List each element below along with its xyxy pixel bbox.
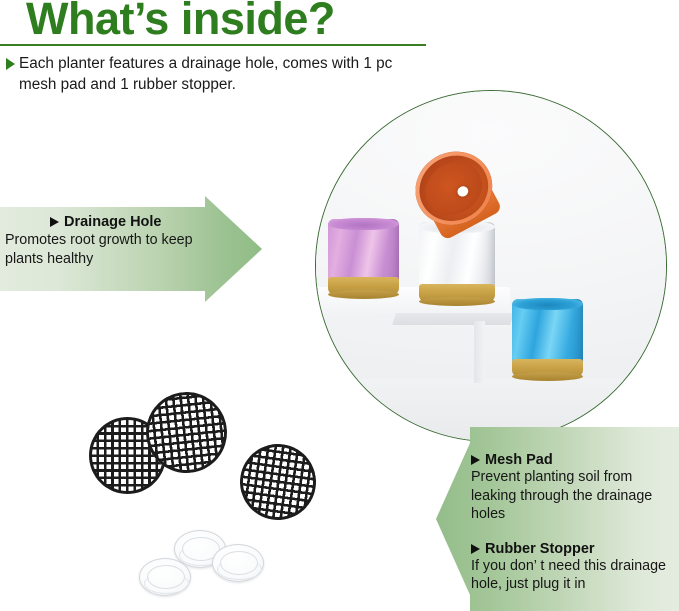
- blue-planter-gold-base: [512, 359, 583, 377]
- mesh-pad-body: Prevent planting soil from leaking throu…: [471, 468, 679, 524]
- drainage-hole-heading-row: Drainage Hole: [50, 214, 210, 230]
- intro-text: Each planter features a drainage hole, c…: [19, 53, 430, 95]
- rubber-stopper-heading-row: Rubber Stopper: [471, 541, 679, 557]
- mesh-pad-image: [235, 439, 321, 525]
- purple-planter-rim: [328, 218, 399, 230]
- rubber-stopper-image: [212, 544, 264, 582]
- blue-planter: [512, 299, 583, 373]
- mesh-pad-block: Mesh Pad Prevent planting soil from leak…: [471, 452, 679, 524]
- drainage-hole-callout-text: Drainage Hole Promotes root growth to ke…: [0, 214, 210, 268]
- photo-riser-leg: [474, 321, 485, 383]
- product-photo-planters: [315, 90, 667, 442]
- triangle-right-icon: [471, 544, 480, 554]
- rubber-stopper-image: [139, 558, 191, 596]
- blue-planter-rim: [512, 298, 583, 310]
- rubber-stopper-body: If you don’ t need this drainage hole, j…: [471, 557, 679, 594]
- photo-riser-edge: [392, 313, 514, 325]
- infographic-page: What’s inside? Each planter features a d…: [0, 0, 679, 611]
- intro-line: Each planter features a drainage hole, c…: [6, 53, 430, 95]
- page-title: What’s inside?: [26, 0, 335, 45]
- drainage-hole-body: Promotes root growth to keep plants heal…: [5, 231, 210, 268]
- rubber-stopper-block: Rubber Stopper If you don’ t need this d…: [471, 541, 679, 594]
- rubber-stopper-heading: Rubber Stopper: [485, 541, 595, 557]
- drainage-hole-heading: Drainage Hole: [64, 214, 162, 230]
- photo-backdrop: [316, 91, 666, 441]
- triangle-right-icon: [6, 58, 15, 70]
- mesh-and-stopper-callout-text: Mesh Pad Prevent planting soil from leak…: [471, 452, 679, 594]
- triangle-right-icon: [50, 217, 59, 227]
- white-planter-gold-base: [419, 284, 495, 302]
- blue-planter-base-lip: [512, 372, 583, 381]
- title-divider: [0, 44, 426, 46]
- purple-planter-base-lip: [328, 290, 399, 299]
- triangle-right-icon: [471, 455, 480, 465]
- mesh-pad-heading-row: Mesh Pad: [471, 452, 679, 468]
- purple-planter: [328, 219, 399, 291]
- white-planter-base-lip: [419, 297, 495, 306]
- mesh-pad-heading: Mesh Pad: [485, 452, 553, 468]
- purple-planter-gold-base: [328, 277, 399, 295]
